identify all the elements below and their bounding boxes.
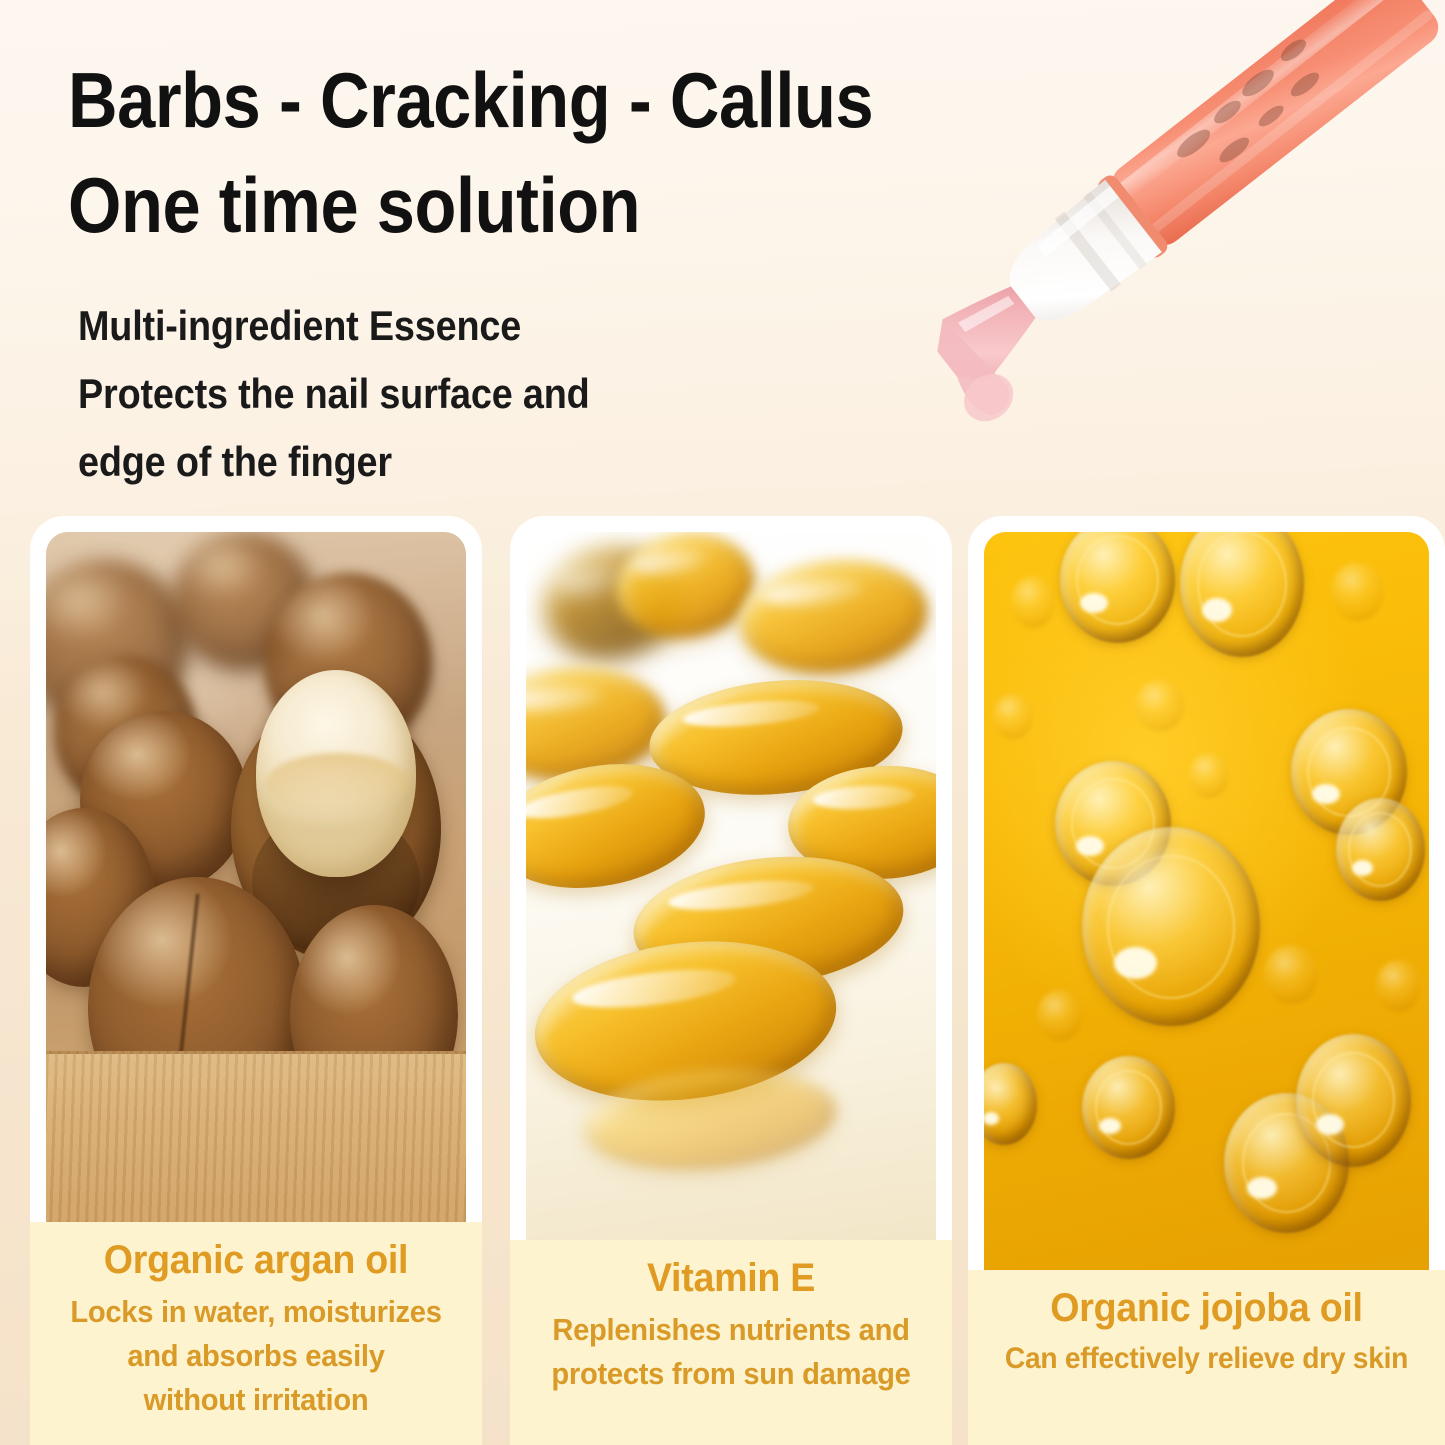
card-caption: Vitamin E Replenishes nutrients and prot… bbox=[510, 1240, 952, 1445]
pen-tip-bevel bbox=[920, 313, 1018, 422]
ingredient-description: Replenishes nutrients and protects from … bbox=[533, 1302, 930, 1396]
page-subtitle: Multi-ingredient Essence Protects the na… bbox=[78, 292, 798, 496]
pen-applicator-tip bbox=[924, 274, 1048, 394]
ingredient-title: Organic jojoba oil bbox=[992, 1270, 1422, 1332]
product-infographic-poster: Barbs - Cracking - Callus One time solut… bbox=[0, 0, 1445, 1445]
vitamin-e-capsules-photo bbox=[526, 532, 936, 1240]
argan-nuts-photo bbox=[46, 532, 466, 1222]
ingredient-cards: Organic argan oil Locks in water, moistu… bbox=[0, 516, 1445, 1445]
pen-collar bbox=[995, 180, 1162, 339]
card-caption: Organic jojoba oil Can effectively relie… bbox=[968, 1270, 1445, 1445]
page-title: Barbs - Cracking - Callus One time solut… bbox=[68, 48, 983, 257]
ingredient-description: Locks in water, moisturizes and absorbs … bbox=[53, 1284, 459, 1422]
pen-ring bbox=[1094, 172, 1170, 261]
card-caption: Organic argan oil Locks in water, moistu… bbox=[30, 1222, 482, 1445]
ingredient-title: Organic argan oil bbox=[53, 1222, 459, 1284]
ingredient-card-argan-oil[interactable]: Organic argan oil Locks in water, moistu… bbox=[30, 516, 482, 1445]
jojoba-oil-photo bbox=[984, 532, 1429, 1270]
ingredient-card-jojoba-oil[interactable]: Organic jojoba oil Can effectively relie… bbox=[968, 516, 1445, 1445]
ingredient-title: Vitamin E bbox=[533, 1240, 930, 1302]
ingredient-card-vitamin-e[interactable]: Vitamin E Replenishes nutrients and prot… bbox=[510, 516, 952, 1445]
ingredient-description: Can effectively relieve dry skin bbox=[992, 1332, 1422, 1381]
pen-barrel bbox=[1105, 0, 1445, 252]
